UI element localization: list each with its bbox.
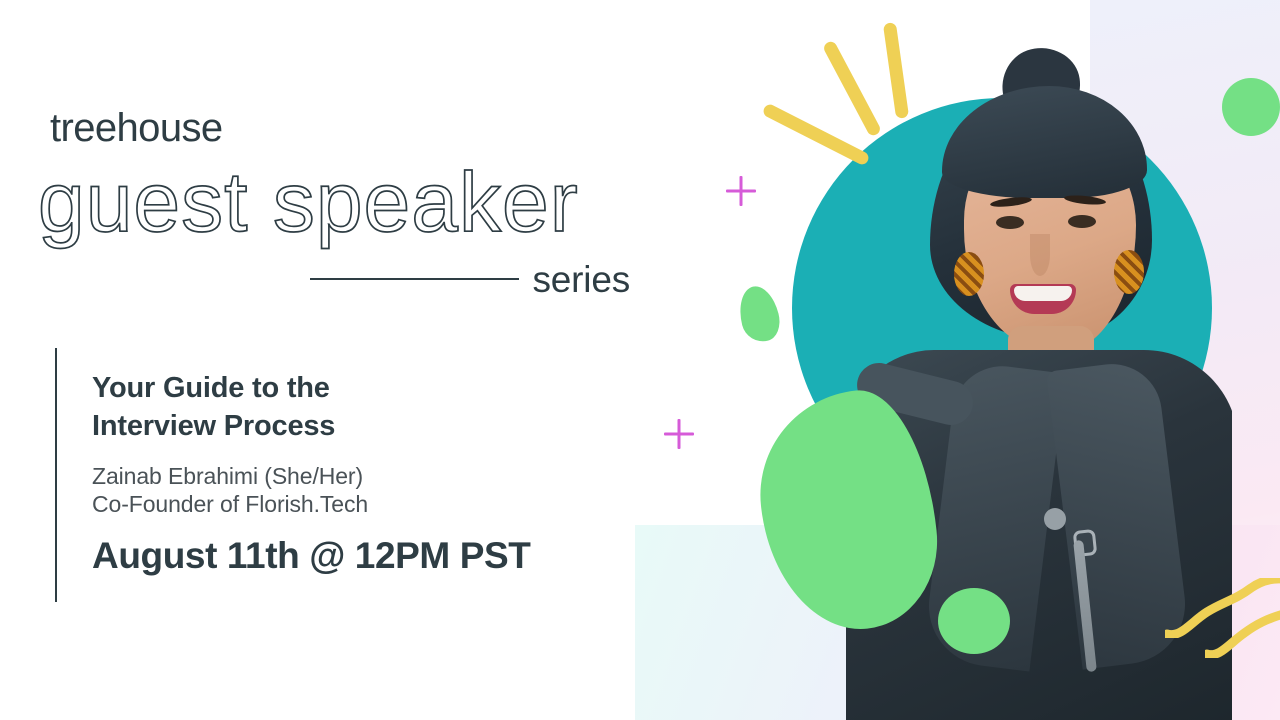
eye-right xyxy=(1068,215,1096,228)
teeth xyxy=(1014,286,1072,301)
talk-title: Your Guide to the Interview Process xyxy=(92,369,562,446)
plus-mark-icon xyxy=(726,176,756,206)
event-datetime: August 11th @ 12PM PST xyxy=(92,534,530,578)
nose xyxy=(1030,234,1050,276)
talk-title-line-2: Interview Process xyxy=(92,410,335,442)
plus-mark-icon xyxy=(664,419,694,449)
series-label: series xyxy=(533,261,631,298)
green-circle-bottom xyxy=(938,588,1010,654)
talk-title-line-1: Your Guide to the xyxy=(92,372,330,404)
eye-left xyxy=(996,216,1024,229)
hair-front xyxy=(942,86,1147,198)
earring-left xyxy=(954,252,984,296)
green-blob-small xyxy=(734,282,784,346)
series-row: series xyxy=(310,256,630,302)
jacket-snap-button xyxy=(1044,508,1066,530)
text-column: treehouse guest speaker series Your Guid… xyxy=(0,0,660,720)
slide-canvas: treehouse guest speaker series Your Guid… xyxy=(0,0,1280,720)
series-divider-rule xyxy=(310,278,519,280)
speaker-role: Co-Founder of Florish.Tech xyxy=(92,489,368,521)
earring-right xyxy=(1114,250,1144,294)
treehouse-wordmark: treehouse xyxy=(50,108,223,148)
speaker-name: Zainab Ebrahimi (She/Her) xyxy=(92,461,363,493)
wavy-line-icon xyxy=(1205,608,1280,658)
headline-guest-speaker: guest speaker xyxy=(38,160,579,244)
vertical-accent-rule xyxy=(55,348,57,602)
